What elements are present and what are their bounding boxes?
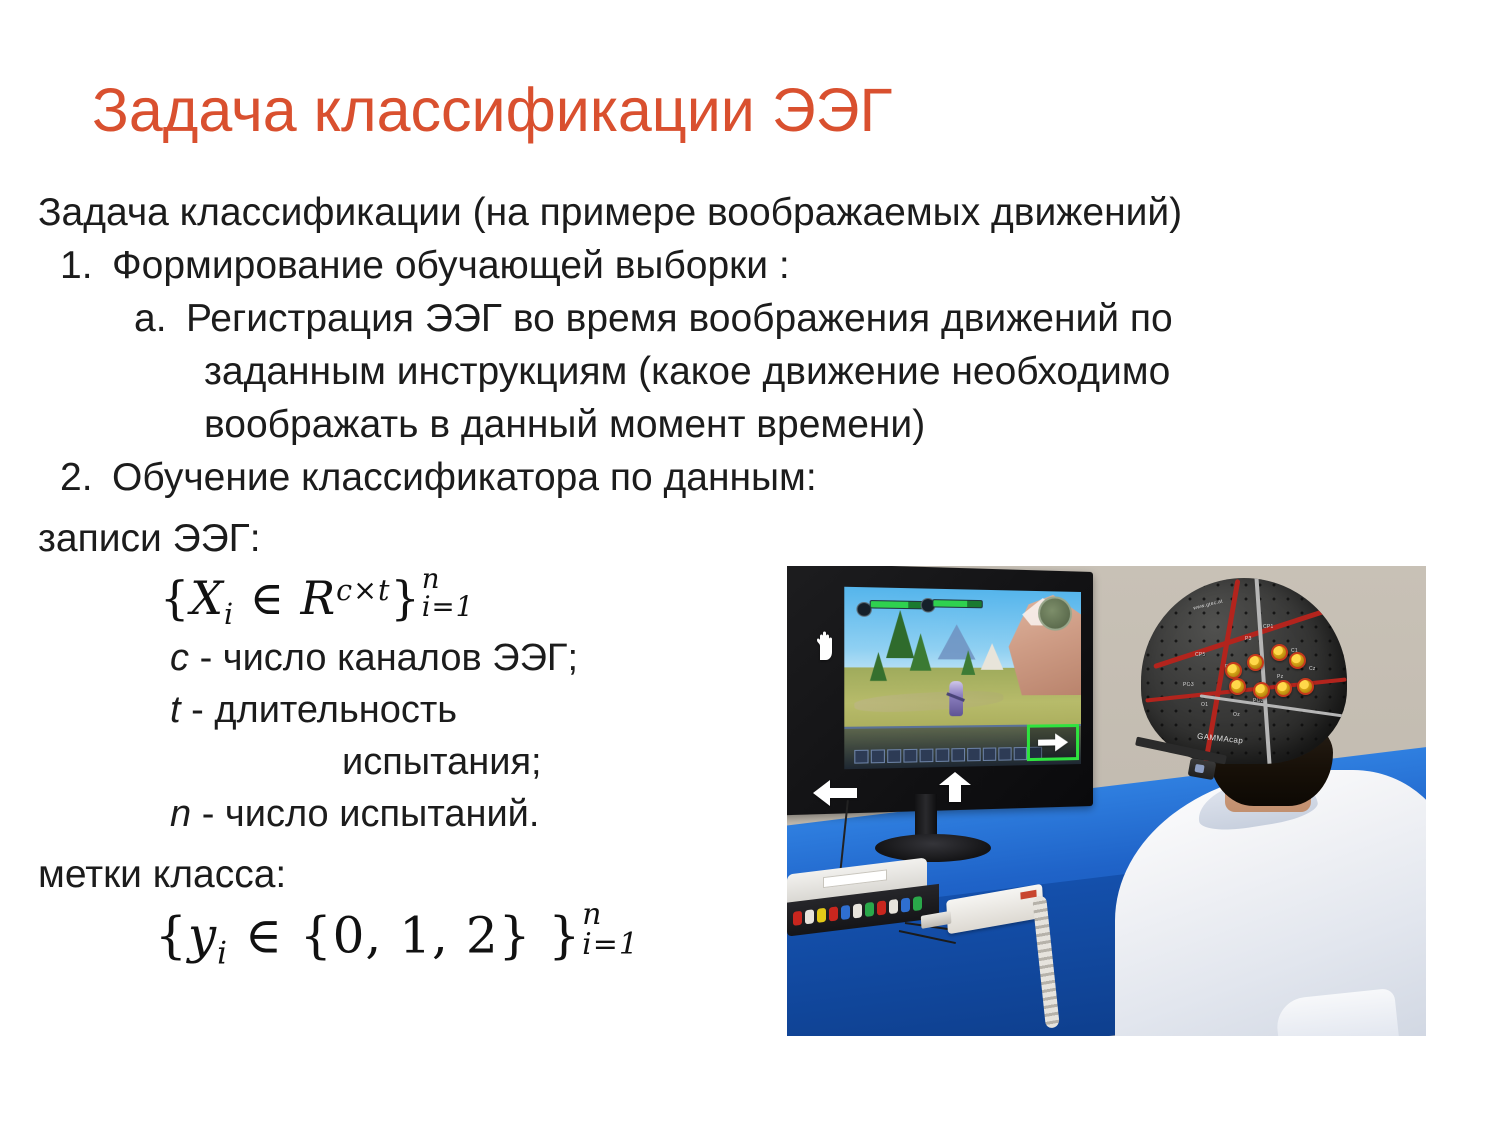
list-text-1a: Регистрация ЭЭГ во время воображения дви… xyxy=(186,292,1173,345)
formula2-limit-lower: i=1 xyxy=(582,930,639,960)
formula2-limit-upper: n xyxy=(582,900,639,930)
game-health-bar xyxy=(869,600,925,609)
monitor xyxy=(797,572,1097,838)
game-action-slot xyxy=(983,748,996,762)
eeg-amplifier-label xyxy=(823,869,887,888)
formula1-subscript: i xyxy=(224,598,234,631)
eeg-cap-label: O1 xyxy=(1201,702,1208,708)
game-action-slot xyxy=(903,749,917,763)
eeg-electrode xyxy=(1275,680,1292,697)
eeg-setup-photo: www.gtec.at CP5 P3 P5 PO3 O1 Oz POz Pz C… xyxy=(787,566,1426,1036)
list-text-2: Обучение классификатора по данным: xyxy=(112,451,817,504)
eeg-electrode xyxy=(1289,652,1306,669)
legend-var-t: t xyxy=(170,689,181,731)
list-item-1: 1. Формирование обучающей выборки : xyxy=(60,239,1458,292)
game-action-slots xyxy=(854,747,1042,764)
legend-row-t: t - длительность xyxy=(170,684,578,736)
list-item-1a: a. Регистрация ЭЭГ во время воображения … xyxy=(134,292,1458,345)
eeg-cap-label: Cz xyxy=(1309,666,1316,672)
connector-jack xyxy=(817,908,826,923)
legend-dash-c: - xyxy=(200,637,213,679)
eeg-cap: www.gtec.at CP5 P3 P5 PO3 O1 Oz POz Pz C… xyxy=(1141,578,1347,764)
formula1-open-brace: { xyxy=(160,571,190,625)
game-tree xyxy=(961,650,975,675)
list-item-2: 2. Обучение классификатора по данным: xyxy=(60,451,1458,504)
formula2-set-close: } xyxy=(499,907,532,965)
eeg-electrode xyxy=(1271,644,1288,661)
connector-jack xyxy=(913,896,922,911)
formula1-limit-lower: i=1 xyxy=(422,593,475,621)
connector-jack xyxy=(865,902,874,917)
game-tree xyxy=(870,651,887,680)
list-text-1: Формирование обучающей выборки : xyxy=(112,239,790,292)
list-marker-1: 1. xyxy=(60,239,112,292)
hand-cue-icon xyxy=(813,630,839,660)
legend-var-n: n xyxy=(170,793,191,835)
connector-jack xyxy=(853,903,862,918)
subject: www.gtec.at CP5 P3 P5 PO3 O1 Oz POz Pz C… xyxy=(1105,574,1426,1036)
eeg-electrode xyxy=(1229,678,1246,695)
formula2-member: ∈ xyxy=(245,907,283,965)
right-arrow-cue-highlighted xyxy=(1027,724,1079,761)
list-text-1a-cont-1: заданным инструкциям (какое движение нео… xyxy=(204,345,1458,398)
eeg-cap-module-box xyxy=(1188,758,1217,780)
eeg-cap-label: CP1 xyxy=(1263,624,1274,630)
legend-row-n: n - число испытаний. xyxy=(170,788,578,840)
intro-line: Задача классификации (на примере воображ… xyxy=(38,186,1458,239)
game-player-character xyxy=(949,682,963,717)
page-title: Задача классификации ЭЭГ xyxy=(92,78,893,142)
list-text-1a-cont-2: воображать в данный момент времени) xyxy=(204,398,1458,451)
formula1-space: R xyxy=(300,571,336,625)
game-health-bar xyxy=(933,599,983,608)
up-arrow-cue-icon xyxy=(939,772,971,802)
legend-desc-t: длительность xyxy=(214,689,457,731)
monitor-stand-base xyxy=(875,834,991,862)
formula1-symbol: X xyxy=(190,571,224,625)
formula2-open-brace: { xyxy=(155,907,188,965)
labels-heading: метки класса: xyxy=(38,848,286,901)
formula2-subscript: i xyxy=(217,935,228,971)
game-action-slot xyxy=(1014,747,1027,760)
eeg-cap-label: PO3 xyxy=(1183,682,1194,688)
formula1-limit-upper: n xyxy=(422,565,475,593)
connector-jack xyxy=(829,906,838,921)
formula2-close-brace: } xyxy=(548,907,581,965)
game-action-slot xyxy=(871,750,885,764)
legend-row-t-cont: испытания; xyxy=(342,736,578,788)
legend-var-c: c xyxy=(170,637,189,679)
formula2-symbol: y xyxy=(188,907,217,965)
arrow-right-icon xyxy=(1038,733,1068,752)
game-action-slot xyxy=(920,749,934,763)
formula-eeg-records: {Xi ∈ Rc×t} n i=1 xyxy=(160,565,474,631)
connector-jack xyxy=(877,900,886,915)
list-marker-1a: a. xyxy=(134,292,186,345)
formula-class-labels: {yi ∈ {0, 1, 2} } n i=1 xyxy=(155,900,639,971)
list-marker-2: 2. xyxy=(60,451,112,504)
eeg-cap-electrode-holes xyxy=(1141,578,1347,764)
legend-row-c: c - число каналов ЭЭГ; xyxy=(170,632,578,684)
formula1-close-brace: } xyxy=(390,571,420,625)
game-action-slot xyxy=(967,748,981,762)
eeg-cap-label: Oz xyxy=(1233,712,1240,718)
game-action-slot xyxy=(887,750,901,764)
content-body: Задача классификации (на примере воображ… xyxy=(38,186,1458,504)
variable-legend: c - число каналов ЭЭГ; t - длительность … xyxy=(170,632,578,840)
records-heading: записи ЭЭГ: xyxy=(38,512,261,565)
eeg-electrode xyxy=(1297,678,1314,695)
left-arrow-cue-icon xyxy=(813,780,857,806)
connector-jack xyxy=(901,897,910,912)
game-action-slot xyxy=(998,748,1011,762)
game-action-slot xyxy=(854,750,868,764)
game-tent xyxy=(980,643,1003,670)
legend-desc-t-cont: испытания; xyxy=(342,741,542,783)
connector-jack xyxy=(841,905,850,920)
formula1-member: ∈ xyxy=(250,571,285,625)
game-tree xyxy=(909,633,931,670)
legend-desc-n: число испытаний. xyxy=(225,793,540,835)
eeg-cap-label: P3 xyxy=(1245,636,1252,642)
formula2-set-open: { xyxy=(300,907,333,965)
legend-desc-c: число каналов ЭЭГ; xyxy=(223,637,578,679)
connector-jack xyxy=(805,909,814,924)
connector-jack xyxy=(793,911,802,926)
legend-dash-n: - xyxy=(202,793,215,835)
formula1-exponent: c×t xyxy=(336,574,390,607)
formula2-set-values: 0, 1, 2 xyxy=(333,907,499,965)
eeg-electrode xyxy=(1225,662,1242,679)
game-action-slot xyxy=(951,748,965,762)
game-action-slot xyxy=(936,749,950,763)
eeg-cap-label: CP5 xyxy=(1195,652,1206,658)
legend-dash-t: - xyxy=(191,689,204,731)
game-minimap xyxy=(1038,596,1072,631)
eeg-electrode xyxy=(1253,682,1270,699)
eeg-electrode xyxy=(1247,654,1264,671)
connector-jack xyxy=(889,899,898,914)
monitor-screen xyxy=(844,587,1081,769)
